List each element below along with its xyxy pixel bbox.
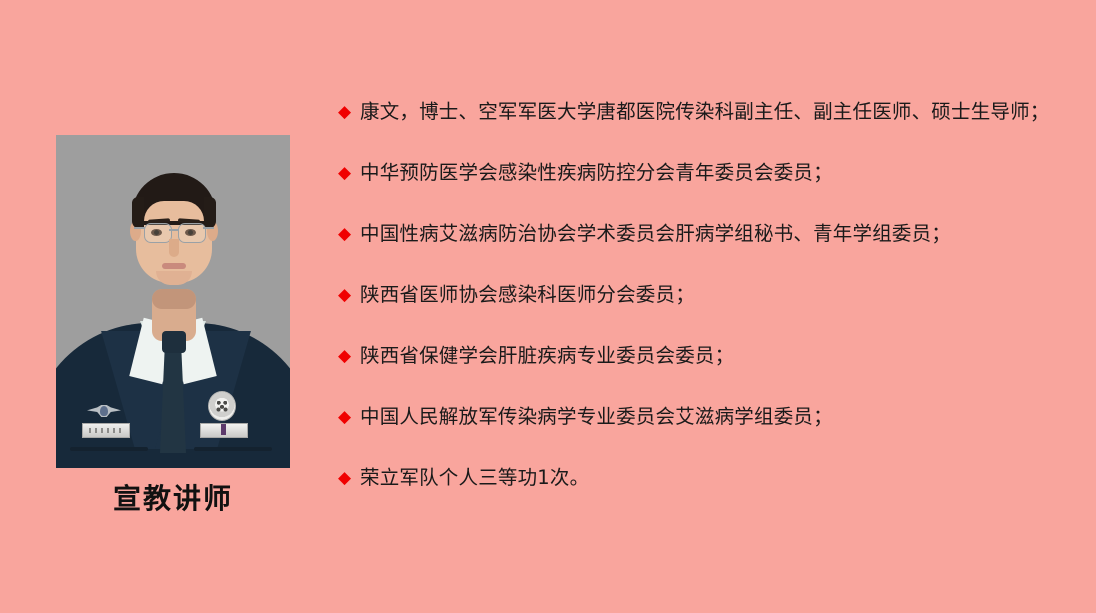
list-item: ◆ 陕西省保健学会肝脏疾病专业委员会委员； [338, 342, 1074, 403]
list-item-label: 中华预防医学会感染性疾病防控分会青年委员会委员； [360, 159, 1074, 187]
portrait-caption: 宣教讲师 [56, 482, 290, 516]
portrait-photo [56, 135, 290, 468]
list-item: ◆ 中华预防医学会感染性疾病防控分会青年委员会委员； [338, 159, 1074, 220]
list-item: ◆ 荣立军队个人三等功1次。 [338, 464, 1074, 525]
diamond-bullet-icon: ◆ [338, 281, 360, 309]
list-item: ◆ 康文，博士、空军军医大学唐都医院传染科副主任、副主任医师、硕士生导师； [338, 98, 1074, 159]
mouth [162, 263, 186, 269]
diamond-bullet-icon: ◆ [338, 159, 360, 187]
necktie-knot [162, 331, 186, 353]
pocket-flap-right [194, 447, 272, 451]
eyeglasses-lens-left [144, 223, 172, 243]
winged-badge-center [100, 406, 108, 416]
list-item-label: 陕西省保健学会肝脏疾病专业委员会委员； [360, 342, 1074, 370]
hair-sideburn-right [204, 197, 216, 229]
hair-sideburn-left [132, 197, 144, 229]
list-item: ◆ 中国性病艾滋病防治协会学术委员会肝病学组秘书、青年学组委员； [338, 220, 1074, 281]
eyeglasses-bridge [169, 229, 179, 231]
diamond-bullet-icon: ◆ [338, 403, 360, 431]
pocket-flap-left [70, 447, 148, 451]
chin [156, 271, 192, 285]
ribbon-bar-icon [200, 423, 248, 438]
diamond-bullet-icon: ◆ [338, 342, 360, 370]
bio-credential-list: ◆ 康文，博士、空军军医大学唐都医院传染科副主任、副主任医师、硕士生导师； ◆ … [338, 98, 1074, 525]
diamond-bullet-icon: ◆ [338, 220, 360, 248]
diamond-bullet-icon: ◆ [338, 98, 360, 126]
slide-root: 宣教讲师 ◆ 康文，博士、空军军医大学唐都医院传染科副主任、副主任医师、硕士生导… [0, 0, 1096, 613]
eyeglasses-lens-right [178, 223, 206, 243]
medallion-badge-icon [208, 391, 236, 421]
list-item-label: 中国性病艾滋病防治协会学术委员会肝病学组秘书、青年学组委员； [360, 220, 1074, 248]
neck-shadow [152, 289, 196, 309]
list-item-label: 荣立军队个人三等功1次。 [360, 464, 1074, 492]
nose [169, 239, 179, 257]
forehead [144, 201, 204, 221]
list-item-label: 陕西省医师协会感染科医师分会委员； [360, 281, 1074, 309]
list-item: ◆ 陕西省医师协会感染科医师分会委员； [338, 281, 1074, 342]
name-plate-icon [82, 423, 130, 438]
list-item-label: 康文，博士、空军军医大学唐都医院传染科副主任、副主任医师、硕士生导师； [360, 98, 1074, 126]
eyeglasses-arm-right [203, 227, 214, 229]
portrait-block: 宣教讲师 [56, 135, 290, 516]
eyeglasses-arm-left [134, 227, 145, 229]
list-item: ◆ 中国人民解放军传染病学专业委员会艾滋病学组委员； [338, 403, 1074, 464]
list-item-label: 中国人民解放军传染病学专业委员会艾滋病学组委员； [360, 403, 1074, 431]
diamond-bullet-icon: ◆ [338, 464, 360, 492]
